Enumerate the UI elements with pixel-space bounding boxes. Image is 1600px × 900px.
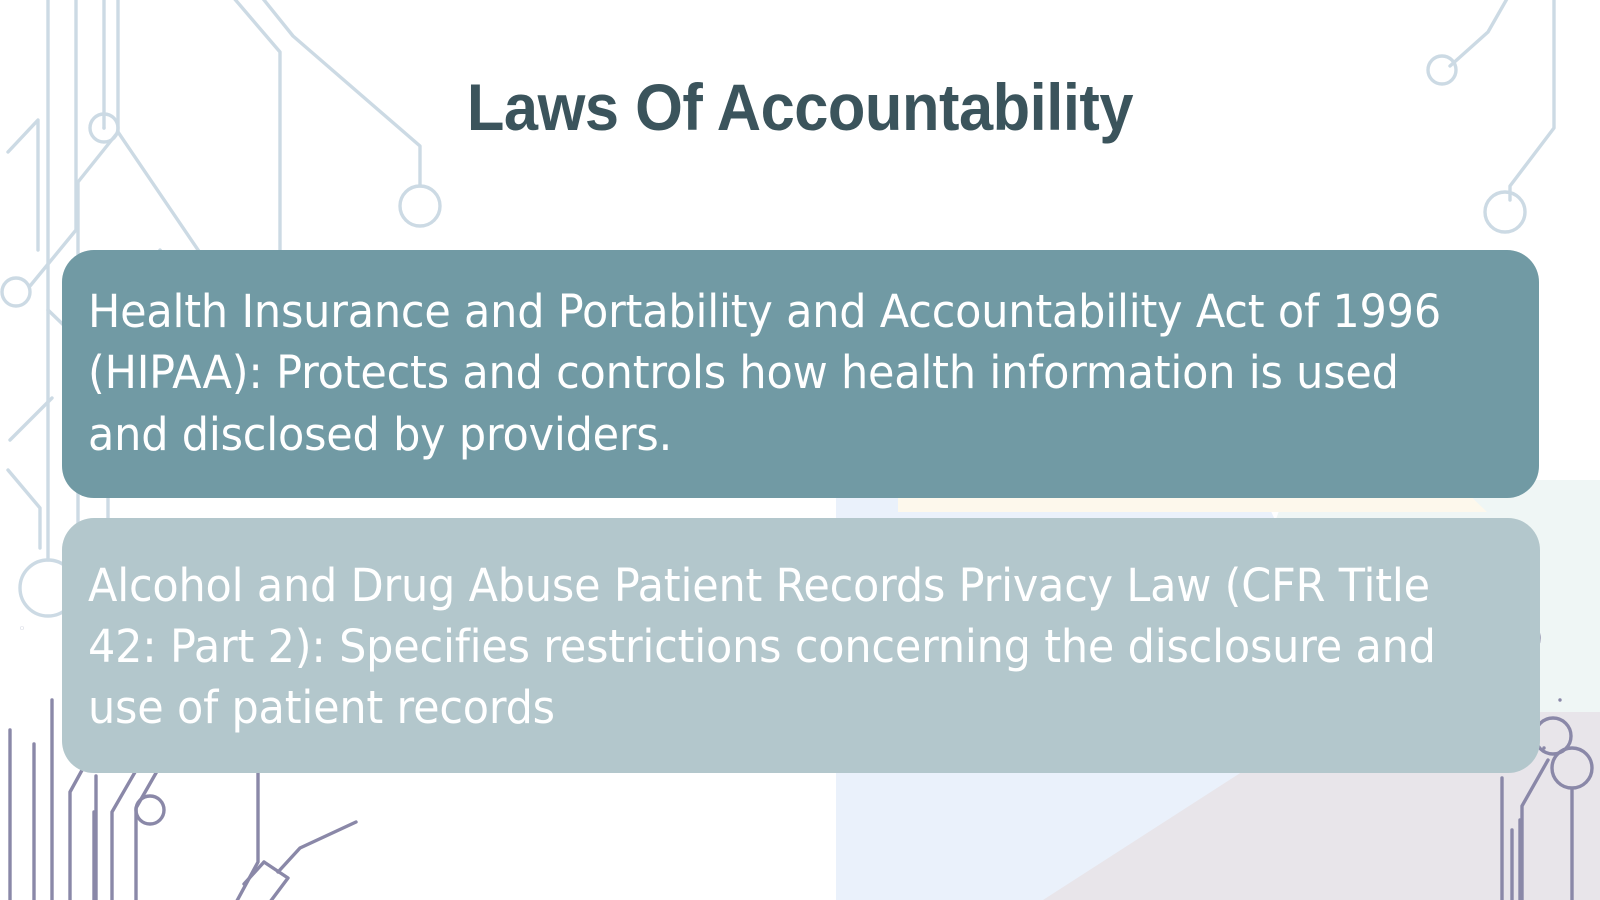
content-card-hipaa: Health Insurance and Portability and Acc… [62,250,1539,498]
content-card-hipaa-text: Health Insurance and Portability and Acc… [88,281,1441,465]
content-card-cfr-part-2-text: Alcohol and Drug Abuse Patient Records P… [88,555,1442,739]
content-card-cfr-part-2: Alcohol and Drug Abuse Patient Records P… [62,518,1540,773]
circuit-traces-mid-left [8,120,40,548]
slide-title: Laws Of Accountability [56,72,1544,143]
slide-canvas: Laws Of Accountability Health Insurance … [0,0,1600,900]
